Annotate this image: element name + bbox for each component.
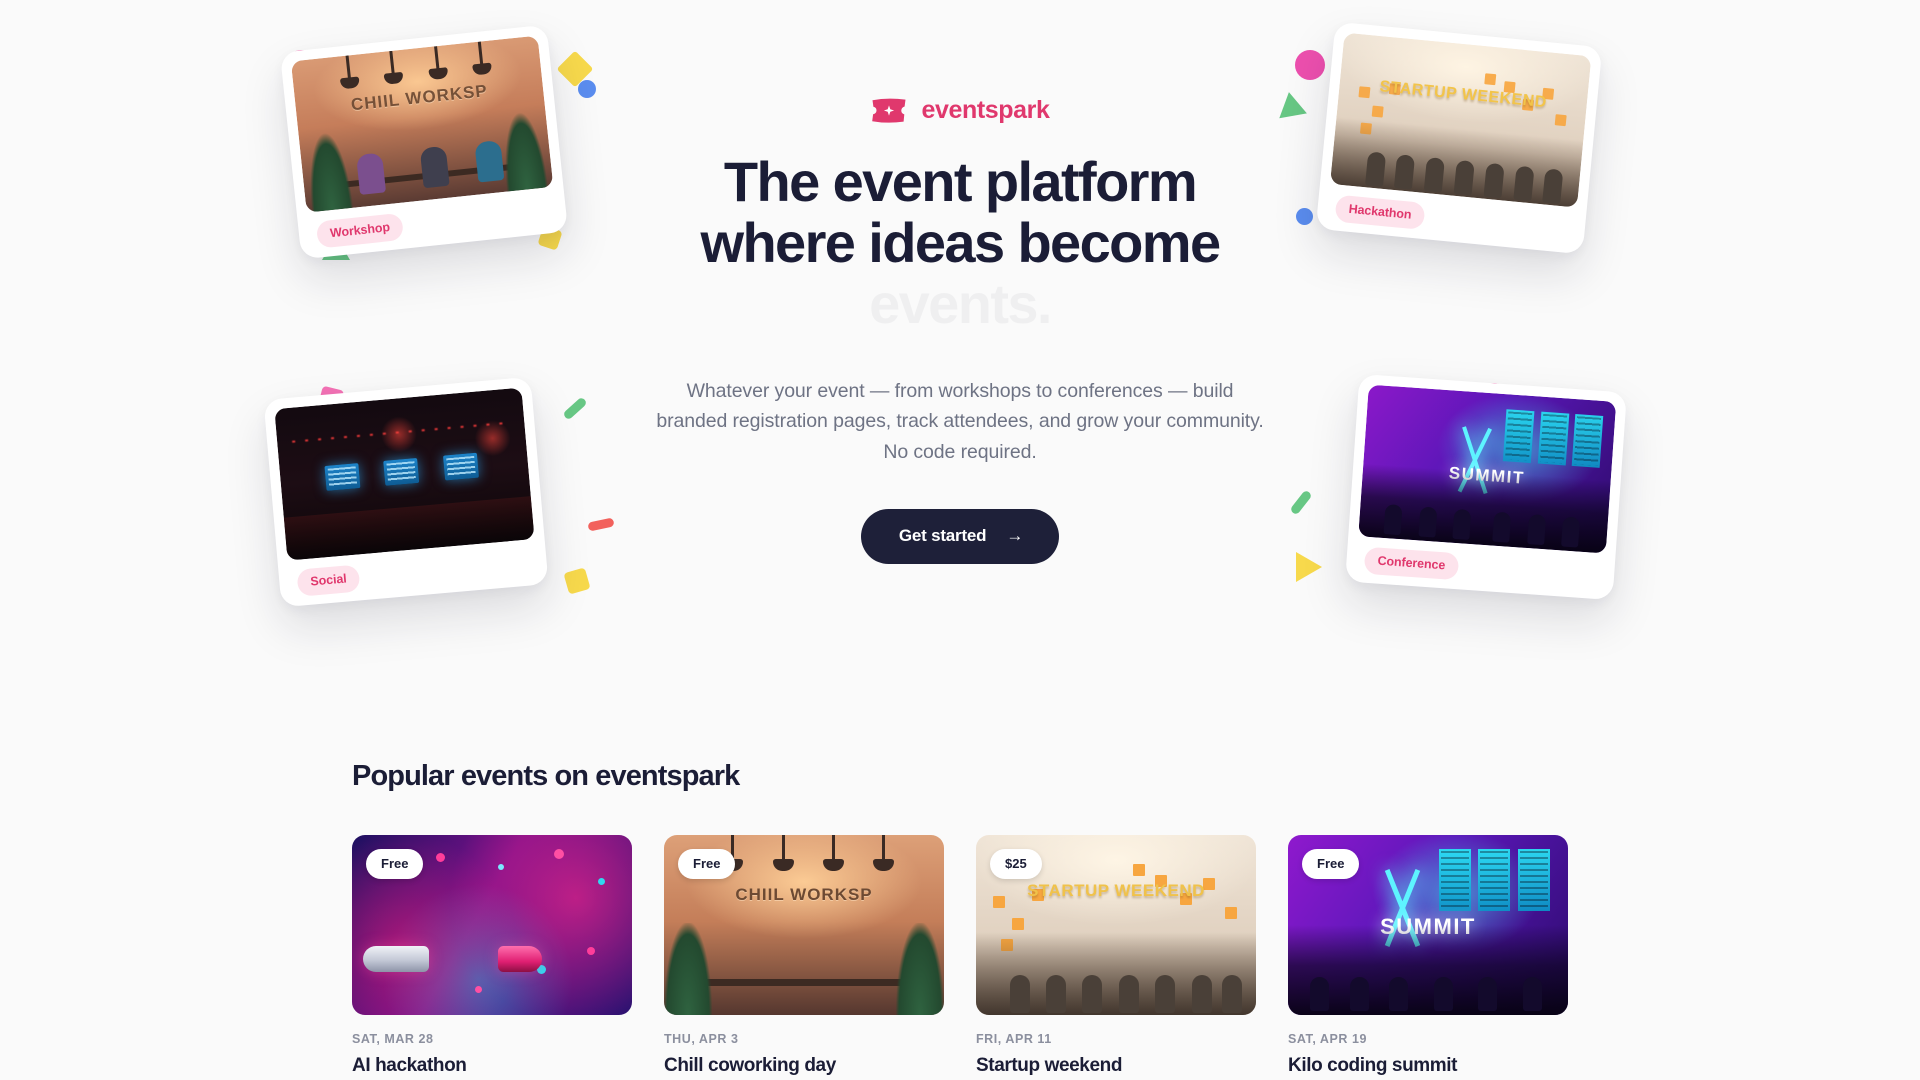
floating-card-social-image	[274, 388, 534, 561]
get-started-label: Get started	[899, 526, 987, 546]
floating-card-workshop-image-text: CHIIL WORKSP	[295, 75, 544, 121]
ticket-sparkle-icon	[870, 97, 908, 124]
event-thumbnail: $25 STARTUP WEEKEND	[976, 835, 1256, 1015]
event-date: SAT, APR 19	[1288, 1032, 1568, 1046]
floating-card-social-tag: Social	[296, 564, 360, 596]
event-thumbnail: Free	[352, 835, 632, 1015]
floating-card-conference[interactable]: SUMMIT Conference	[1345, 374, 1627, 600]
popular-events-title: Popular events on eventspark	[352, 760, 1568, 793]
floating-card-workshop[interactable]: CHIIL WORKSP Workshop	[280, 25, 568, 260]
event-title: Startup weekend	[976, 1054, 1256, 1079]
popular-events-section: Popular events on eventspark Free	[0, 760, 1920, 1079]
floating-card-conference-tag: Conference	[1364, 546, 1459, 579]
event-title: Kilo coding summit	[1288, 1054, 1568, 1079]
arrow-right-icon: →	[1006, 527, 1023, 544]
decor-circle-magenta-right	[1295, 50, 1325, 80]
event-title: AI hackathon	[352, 1054, 632, 1079]
page-title: The event platform where ideas become ev…	[640, 151, 1280, 334]
price-badge: $25	[990, 849, 1042, 879]
price-badge: Free	[366, 849, 423, 879]
headline-line-3: events.	[640, 273, 1280, 334]
event-date: THU, APR 3	[664, 1032, 944, 1046]
decor-capsule-green-conference	[1289, 489, 1312, 515]
event-title: Chill coworking day	[664, 1054, 944, 1079]
brand-logo[interactable]: eventspark	[640, 96, 1280, 125]
get-started-button[interactable]: Get started →	[861, 509, 1059, 564]
floating-card-workshop-tag: Workshop	[316, 212, 404, 248]
event-card[interactable]: Free CHIIL WORKSP THU, APR 3 Chill cowor…	[664, 835, 944, 1079]
price-badge: Free	[1302, 849, 1359, 879]
decor-circle-blue-left	[578, 80, 596, 98]
headline-line-2: where ideas become	[700, 211, 1219, 274]
event-thumbnail-text: STARTUP WEEKEND	[976, 882, 1256, 900]
floating-card-hackathon-image: STARTUP WEEKEND	[1330, 33, 1591, 208]
hero-content: eventspark The event platform where idea…	[640, 96, 1280, 564]
event-card[interactable]: Free SUMMIT	[1288, 835, 1568, 1079]
hero-subhead: Whatever your event — from workshops to …	[640, 376, 1280, 467]
event-date: FRI, APR 11	[976, 1032, 1256, 1046]
decor-capsule-green-social	[562, 396, 587, 420]
decor-square-yellow-social	[563, 567, 590, 594]
hero-section: CHIIL WORKSP Workshop	[0, 0, 1920, 760]
headline-line-1: The event platform	[724, 150, 1196, 213]
event-date: SAT, MAR 28	[352, 1032, 632, 1046]
event-grid: Free SAT, MAR 28	[352, 835, 1568, 1079]
event-thumbnail: Free CHIIL WORKSP	[664, 835, 944, 1015]
floating-card-hackathon-tag: Hackathon	[1334, 194, 1425, 229]
price-badge: Free	[678, 849, 735, 879]
floating-card-hackathon[interactable]: STARTUP WEEKEND Hackathon	[1316, 22, 1603, 255]
event-thumbnail: Free SUMMIT	[1288, 835, 1568, 1015]
brand-name: eventspark	[921, 96, 1049, 125]
floating-card-workshop-image: CHIIL WORKSP	[291, 36, 554, 213]
event-card[interactable]: Free SAT, MAR 28	[352, 835, 632, 1079]
decor-triangle-yellow-conference	[1296, 552, 1322, 582]
decor-circle-blue-right	[1296, 208, 1313, 225]
decor-capsule-red-social	[587, 517, 614, 531]
floating-card-social[interactable]: Social	[263, 377, 548, 608]
floating-card-conference-image: SUMMIT	[1358, 385, 1616, 554]
event-thumbnail-text: CHIIL WORKSP	[664, 885, 944, 905]
event-card[interactable]: $25 STARTUP WEEKEND	[976, 835, 1256, 1079]
